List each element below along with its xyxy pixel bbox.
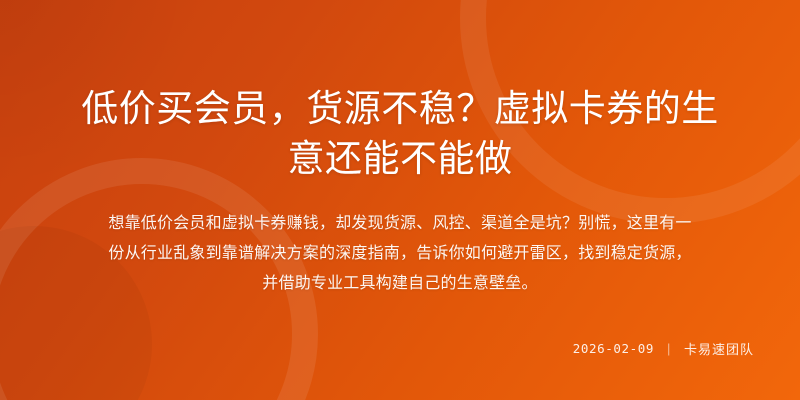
banner-title-line-1: 低价买会员，货源不稳？虚拟卡券的生 <box>81 88 719 129</box>
article-cover-banner: 低价买会员，货源不稳？虚拟卡券的生 意还能不能做 想靠低价会员和虚拟卡券赚钱，却… <box>0 0 800 400</box>
banner-meta: 2026-02-09 | 卡易速团队 <box>573 339 754 358</box>
banner-content: 低价买会员，货源不稳？虚拟卡券的生 意还能不能做 想靠低价会员和虚拟卡券赚钱，却… <box>0 0 800 400</box>
banner-title-line-2: 意还能不能做 <box>288 138 513 179</box>
banner-title: 低价买会员，货源不稳？虚拟卡券的生 意还能不能做 <box>50 0 750 184</box>
author-name: 卡易速团队 <box>684 339 754 358</box>
banner-subtitle: 想靠低价会员和虚拟卡券赚钱，却发现货源、风控、渠道全是坑？别慌，这里有一 份从行… <box>33 184 767 299</box>
banner-subtitle-line-1: 想靠低价会员和虚拟卡券赚钱，却发现货源、风控、渠道全是坑？别慌，这里有一 <box>108 215 691 232</box>
banner-subtitle-line-2: 份从行业乱象到靠谱解决方案的深度指南，告诉你如何避开雷区，找到稳定货源， <box>108 245 691 262</box>
publish-date: 2026-02-09 <box>573 341 654 356</box>
banner-subtitle-line-3: 并借助专业工具构建自己的生意壁垒。 <box>262 275 537 292</box>
meta-separator: | <box>667 341 671 356</box>
